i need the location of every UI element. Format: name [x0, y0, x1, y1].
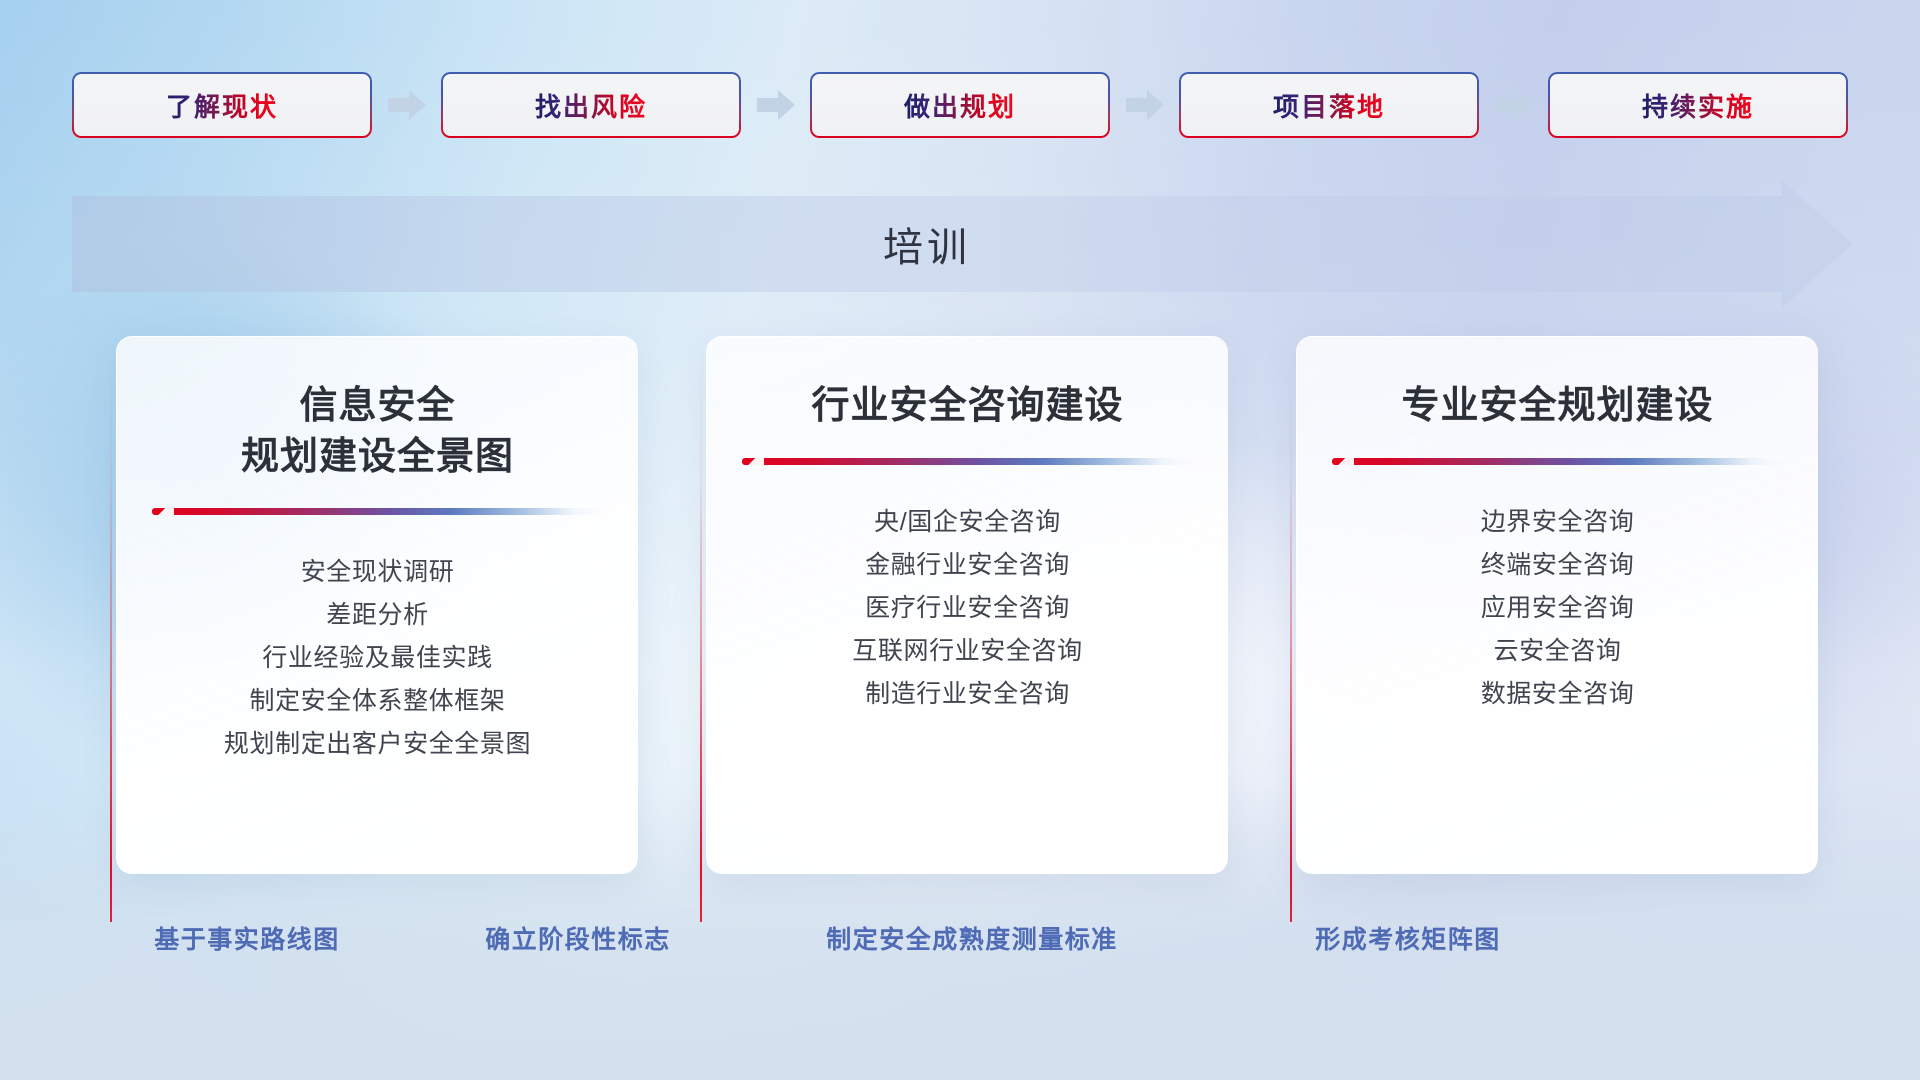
step-arrow-icon-3 — [1126, 90, 1164, 120]
step-box-3[interactable]: 做出规划 — [810, 72, 1110, 138]
solution-card-3[interactable]: 专业安全规划建设 边界安全咨询 终端安全咨询 应用安全咨询 云安全咨询 数据安全… — [1290, 336, 1818, 886]
training-banner: 培训 — [72, 196, 1852, 292]
card-divider-2 — [742, 458, 1194, 465]
list-item: 终端安全咨询 — [1331, 544, 1784, 587]
list-item: 应用安全咨询 — [1331, 587, 1784, 630]
training-banner-title: 培训 — [72, 196, 1782, 292]
list-item: 央/国企安全咨询 — [741, 501, 1194, 544]
card-list-3: 边界安全咨询 终端安全咨询 应用安全咨询 云安全咨询 数据安全咨询 — [1331, 501, 1784, 716]
card-divider-1 — [152, 508, 604, 515]
footer-label-3: 制定安全成熟度测量标准 — [826, 920, 1118, 956]
list-item: 金融行业安全咨询 — [741, 544, 1194, 587]
footer-label-group: 基于事实路线图 确立阶段性标志 制定安全成熟度测量标准 形成考核矩阵图 — [0, 920, 1920, 968]
footer-label-2: 确立阶段性标志 — [485, 920, 671, 956]
list-item: 安全现状调研 — [151, 551, 604, 594]
list-item: 制定安全体系整体框架 — [151, 680, 604, 723]
footer-label-1: 基于事实路线图 — [154, 920, 340, 956]
step-arrow-icon-2 — [757, 90, 795, 120]
card-list-2: 央/国企安全咨询 金融行业安全咨询 医疗行业安全咨询 互联网行业安全咨询 制造行… — [741, 501, 1194, 716]
training-banner-arrow-icon — [1782, 180, 1852, 308]
solution-card-1[interactable]: 信息安全 规划建设全景图 安全现状调研 差距分析 行业经验及最佳实践 制定安全体… — [110, 336, 638, 886]
list-item: 规划制定出客户安全全景图 — [151, 723, 604, 766]
card-divider-3 — [1332, 458, 1784, 465]
card-accent-bar-3 — [1290, 362, 1292, 922]
step-label-2: 找出风险 — [535, 87, 647, 124]
solution-card-2[interactable]: 行业安全咨询建设 央/国企安全咨询 金融行业安全咨询 医疗行业安全咨询 互联网行… — [700, 336, 1228, 886]
step-box-2[interactable]: 找出风险 — [441, 72, 741, 138]
card-title-2: 行业安全咨询建设 — [811, 381, 1123, 432]
process-step-flow: 了解现状 找出风险 做出规划 项目落地 持续实施 — [72, 72, 1848, 138]
card-list-1: 安全现状调研 差距分析 行业经验及最佳实践 制定安全体系整体框架 规划制定出客户… — [151, 551, 604, 766]
card-accent-bar-1 — [110, 362, 112, 922]
step-label-4: 项目落地 — [1273, 87, 1385, 124]
step-arrow-icon-1 — [388, 90, 426, 120]
footer-label-4: 形成考核矩阵图 — [1315, 920, 1501, 956]
list-item: 行业经验及最佳实践 — [151, 637, 604, 680]
step-arrow-icon-4 — [1495, 90, 1533, 120]
list-item: 制造行业安全咨询 — [741, 673, 1194, 716]
card-title-3: 专业安全规划建设 — [1401, 381, 1713, 432]
step-label-5: 持续实施 — [1642, 87, 1754, 124]
step-box-1[interactable]: 了解现状 — [72, 72, 372, 138]
list-item: 医疗行业安全咨询 — [741, 587, 1194, 630]
step-label-1: 了解现状 — [166, 87, 278, 124]
step-box-4[interactable]: 项目落地 — [1179, 72, 1479, 138]
step-box-5[interactable]: 持续实施 — [1548, 72, 1848, 138]
solution-card-group: 信息安全 规划建设全景图 安全现状调研 差距分析 行业经验及最佳实践 制定安全体… — [110, 336, 1820, 886]
list-item: 互联网行业安全咨询 — [741, 630, 1194, 673]
card-accent-bar-2 — [700, 362, 702, 922]
list-item: 差距分析 — [151, 594, 604, 637]
step-label-3: 做出规划 — [904, 87, 1016, 124]
card-title-1: 信息安全 规划建设全景图 — [241, 381, 514, 482]
list-item: 云安全咨询 — [1331, 630, 1784, 673]
list-item: 边界安全咨询 — [1331, 501, 1784, 544]
list-item: 数据安全咨询 — [1331, 673, 1784, 716]
